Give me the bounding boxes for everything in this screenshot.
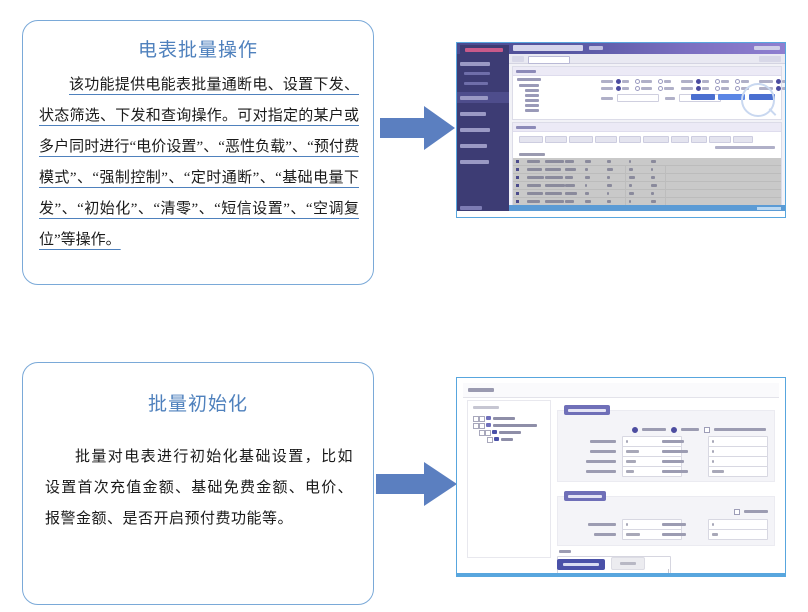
card-title: 批量初始化 [23,389,373,416]
toolbar-button-10[interactable] [733,136,753,143]
console-main-area [509,54,785,211]
sidebar-subitem-1[interactable] [464,72,490,75]
filter-label-3 [681,80,693,83]
tree-node-level-3[interactable] [487,437,541,441]
cancel-button[interactable] [611,557,645,570]
tree-node-label[interactable] [493,417,515,420]
toolbar-button-9[interactable] [709,136,731,143]
filter-1-option-2-label[interactable] [641,80,652,83]
table-row[interactable] [513,190,781,198]
confirm-send-button[interactable] [557,559,605,570]
basic-settings-section: 0 0.74.00 30.00 0.30 0 0 0 14400 [557,410,775,482]
dialog-window: 0 0.74.00 30.00 0.30 0 0 0 14400 0 1.000… [457,378,785,576]
row-checkbox[interactable] [516,192,519,195]
postpaid-mode-radio[interactable] [671,427,677,433]
table-cell [527,168,542,171]
table-cell [629,176,635,179]
dialog-footer-accent [457,573,785,576]
tree-node-level-2[interactable] [479,430,541,434]
selection-summary [519,153,545,156]
table-cell [565,160,574,163]
table-cell [607,200,611,203]
filter-3-option-2-radio[interactable] [715,79,720,84]
card-title: 电表批量操作 [23,35,373,62]
query-filter-panel [512,66,782,120]
table-row[interactable] [513,174,781,182]
filter-3-option-3-label[interactable] [741,80,749,83]
filter-2-option-3-radio[interactable] [658,86,663,91]
table-cell [527,184,541,187]
filter-3-option-1-label[interactable] [702,80,709,83]
table-cell [607,184,612,187]
row-checkbox[interactable] [516,200,519,203]
filter-4-option-1-label[interactable] [702,87,709,90]
table-cell [527,192,543,195]
table-row[interactable] [513,158,781,166]
toolbar-button-8[interactable] [691,136,707,143]
card-body-text: 该功能提供电能表批量通断电、设置下发、状态筛选、下发和查询操作。可对指定的某户或… [39,70,359,256]
table-cell [565,168,576,171]
tree-toolbar[interactable] [473,406,499,409]
panel-header-query [513,67,781,76]
results-table [513,158,781,207]
tree-node-level-1[interactable] [473,423,547,427]
meter-icon [494,437,499,441]
field-label-free-amount [662,440,684,443]
table-cell [585,176,590,179]
tree-node-checkbox[interactable] [485,430,491,436]
tab-bar [509,54,785,64]
field-power-limit[interactable]: 14400 [708,466,768,477]
tree-node-checkbox[interactable] [479,416,485,422]
logo-mark [465,48,503,52]
toolbar-button-6[interactable] [643,136,669,143]
table-cell [527,200,540,203]
sidebar-item-5[interactable] [460,144,487,148]
toolbar-button-1[interactable] [519,136,543,143]
screenshot-meter-batch-operation-console [456,42,786,218]
table-cell [545,176,563,179]
filter-3-option-2-label[interactable] [721,80,729,83]
user-menu[interactable] [754,46,780,50]
tree-node-checkbox[interactable] [487,437,493,443]
auto-clear-label[interactable] [714,428,766,431]
sidebar-item-2[interactable] [460,96,488,100]
remark-label [559,550,571,553]
prepaid-mode-label[interactable] [642,428,666,431]
table-cell [585,192,589,195]
field-label-base-free-amount [662,450,688,453]
field-base-quota[interactable]: 10 [708,529,768,540]
table-cell [545,200,564,203]
field-label-control-amount [662,460,684,463]
table-cell [545,184,565,187]
status-bar [509,205,785,211]
filter-label-2 [601,87,613,90]
tab-home[interactable] [512,56,524,62]
table-cell [545,160,564,163]
field-label-monthly-quota [662,523,686,526]
panel-header-results [513,123,781,132]
filter-3-option-1-radio[interactable] [696,79,701,84]
section-title-basic-settings [564,405,610,415]
filter-2-option-1-radio[interactable] [616,86,621,91]
filter-5-option-1-label[interactable] [782,80,786,83]
table-cell [651,200,656,203]
toolbar-button-4[interactable] [595,136,617,143]
table-cell [651,168,653,171]
table-cell [629,192,634,195]
advanced-settings-section: 0 1.0000 0 10 [557,496,775,546]
tree-node-label[interactable] [501,438,513,441]
tab-meter-batch-operation[interactable] [528,56,570,64]
tree-node-3[interactable] [525,99,539,102]
tree-node-4[interactable] [525,104,539,107]
table-cell [607,160,611,163]
tree-node-1[interactable] [525,89,539,92]
sidebar-item-3[interactable] [460,112,486,116]
table-cell [607,192,609,195]
table-row[interactable] [513,182,781,190]
tree-node-2[interactable] [525,94,539,97]
filter-4-option-2-label[interactable] [721,87,729,90]
filter-4-option-3-radio[interactable] [735,86,740,91]
folder-icon [486,423,491,427]
field-label-overdraft-amount [586,460,616,463]
table-cell [565,192,577,195]
table-cell [651,184,657,187]
sidebar-item-6[interactable] [460,160,489,164]
table-row[interactable] [513,166,781,174]
device-tree-panel[interactable] [467,400,551,558]
folder-icon [492,430,497,434]
query-field-1-label [601,97,613,100]
postpaid-mode-label[interactable] [681,428,699,431]
filter-6-option-1-label[interactable] [782,87,786,90]
table-cell [565,184,575,187]
field-label-alarm-amount [586,470,616,473]
sidebar-nav [457,54,509,211]
filter-5-option-1-radio[interactable] [776,79,781,84]
sidebar-item-1[interactable] [460,62,490,66]
table-cell [545,168,561,171]
filter-1-option-3-label[interactable] [664,80,671,83]
search-icon [741,83,775,117]
table-cell [651,160,656,163]
table-cell [585,184,587,187]
toolbar-button-7[interactable] [671,136,689,143]
tree-search[interactable] [517,78,541,81]
description-card-meter-batch-operation: 电表批量操作 该功能提供电能表批量通断电、设置下发、状态筛选、下发和查询操作。可… [22,20,374,285]
filter-6-option-1-radio[interactable] [776,86,781,91]
filter-1-option-1-label[interactable] [622,80,629,83]
table-cell [607,176,610,179]
tree-node-label[interactable] [493,424,537,427]
screenshot-batch-initialization-dialog: 0 0.74.00 30.00 0.30 0 0 0 14400 0 1.000… [456,377,786,577]
right-arrow-icon [380,104,456,157]
tree-node-root[interactable] [519,84,539,87]
query-button[interactable] [691,94,715,100]
app-title [513,45,583,51]
table-cell [607,168,613,171]
row-checkbox[interactable] [516,160,519,163]
table-cell [527,176,544,179]
sidebar-item-4[interactable] [460,128,490,132]
row-checkbox[interactable] [516,176,519,179]
table-cell [629,200,631,203]
table-cell [629,160,631,163]
filter-2-option-2-radio[interactable] [635,86,640,91]
table-cell [585,160,591,163]
filter-4-option-2-radio[interactable] [715,86,720,91]
table-cell [565,176,573,179]
query-field-1-input[interactable] [617,94,659,102]
folder-icon [486,416,491,420]
tree-node-label[interactable] [499,431,521,434]
table-cell [651,176,655,179]
table-cell [565,200,574,203]
results-panel [512,122,782,208]
filter-label-4 [681,87,693,90]
table-cell [527,160,540,163]
filter-1-option-3-radio[interactable] [658,79,663,84]
filter-1-option-2-radio[interactable] [635,79,640,84]
filter-1-option-1-radio[interactable] [616,79,621,84]
table-cell [585,168,588,171]
filter-3-option-3-radio[interactable] [735,79,740,84]
filter-4-option-1-radio[interactable] [696,86,701,91]
table-cell [629,168,633,171]
tree-node-5[interactable] [525,109,539,112]
toolbar-button-2[interactable] [545,136,567,143]
field-label-rate-value [594,533,616,536]
table-cell [545,192,562,195]
card-body-text: 批量对电表进行初始化基础设置，比如设置首次充值金额、基础免费金额、电价、报警金额… [45,442,353,535]
auto-clear-checkbox[interactable] [704,427,710,433]
field-label-first-recharge-amount [590,440,616,443]
prepaid-mode-radio[interactable] [632,427,638,433]
filter-2-option-3-label[interactable] [664,87,674,90]
table-cell [585,200,591,203]
tab-bar-actions[interactable] [759,56,781,62]
app-version-label [589,46,603,50]
filter-label-1 [601,80,613,83]
enable-feature-checkbox[interactable] [734,509,740,515]
table-gridline-2 [665,166,666,207]
filter-2-option-2-label[interactable] [641,87,652,90]
row-checkbox[interactable] [516,168,519,171]
dialog-header [463,383,779,398]
query-field-2-label [665,97,675,100]
table-cell [651,192,654,195]
sidebar-collapse-toggle[interactable] [460,206,482,210]
section-title-advanced-settings [564,491,606,501]
table-gridline-1 [625,166,626,207]
toolbar-button-3[interactable] [569,136,593,143]
console-window [457,43,785,217]
column-settings-bar[interactable] [715,146,775,149]
field-label-base-quota [662,533,686,536]
field-label-electricity-price [590,450,616,453]
tree-node-root[interactable] [473,416,543,420]
tree-node-checkbox[interactable] [479,423,485,429]
description-card-batch-initialization: 批量初始化 批量对电表进行初始化基础设置，比如设置首次充值金额、基础免费金额、电… [22,362,374,605]
row-checkbox[interactable] [516,184,519,187]
field-label-prepaid-threshold [588,523,616,526]
sidebar-subitem-2[interactable] [464,82,488,85]
toolbar-button-5[interactable] [619,136,641,143]
field-label-power-limit [662,470,688,473]
right-arrow-icon [376,460,458,513]
filter-2-option-1-label[interactable] [622,87,629,90]
enable-feature-label[interactable] [744,510,768,513]
table-cell [629,184,632,187]
